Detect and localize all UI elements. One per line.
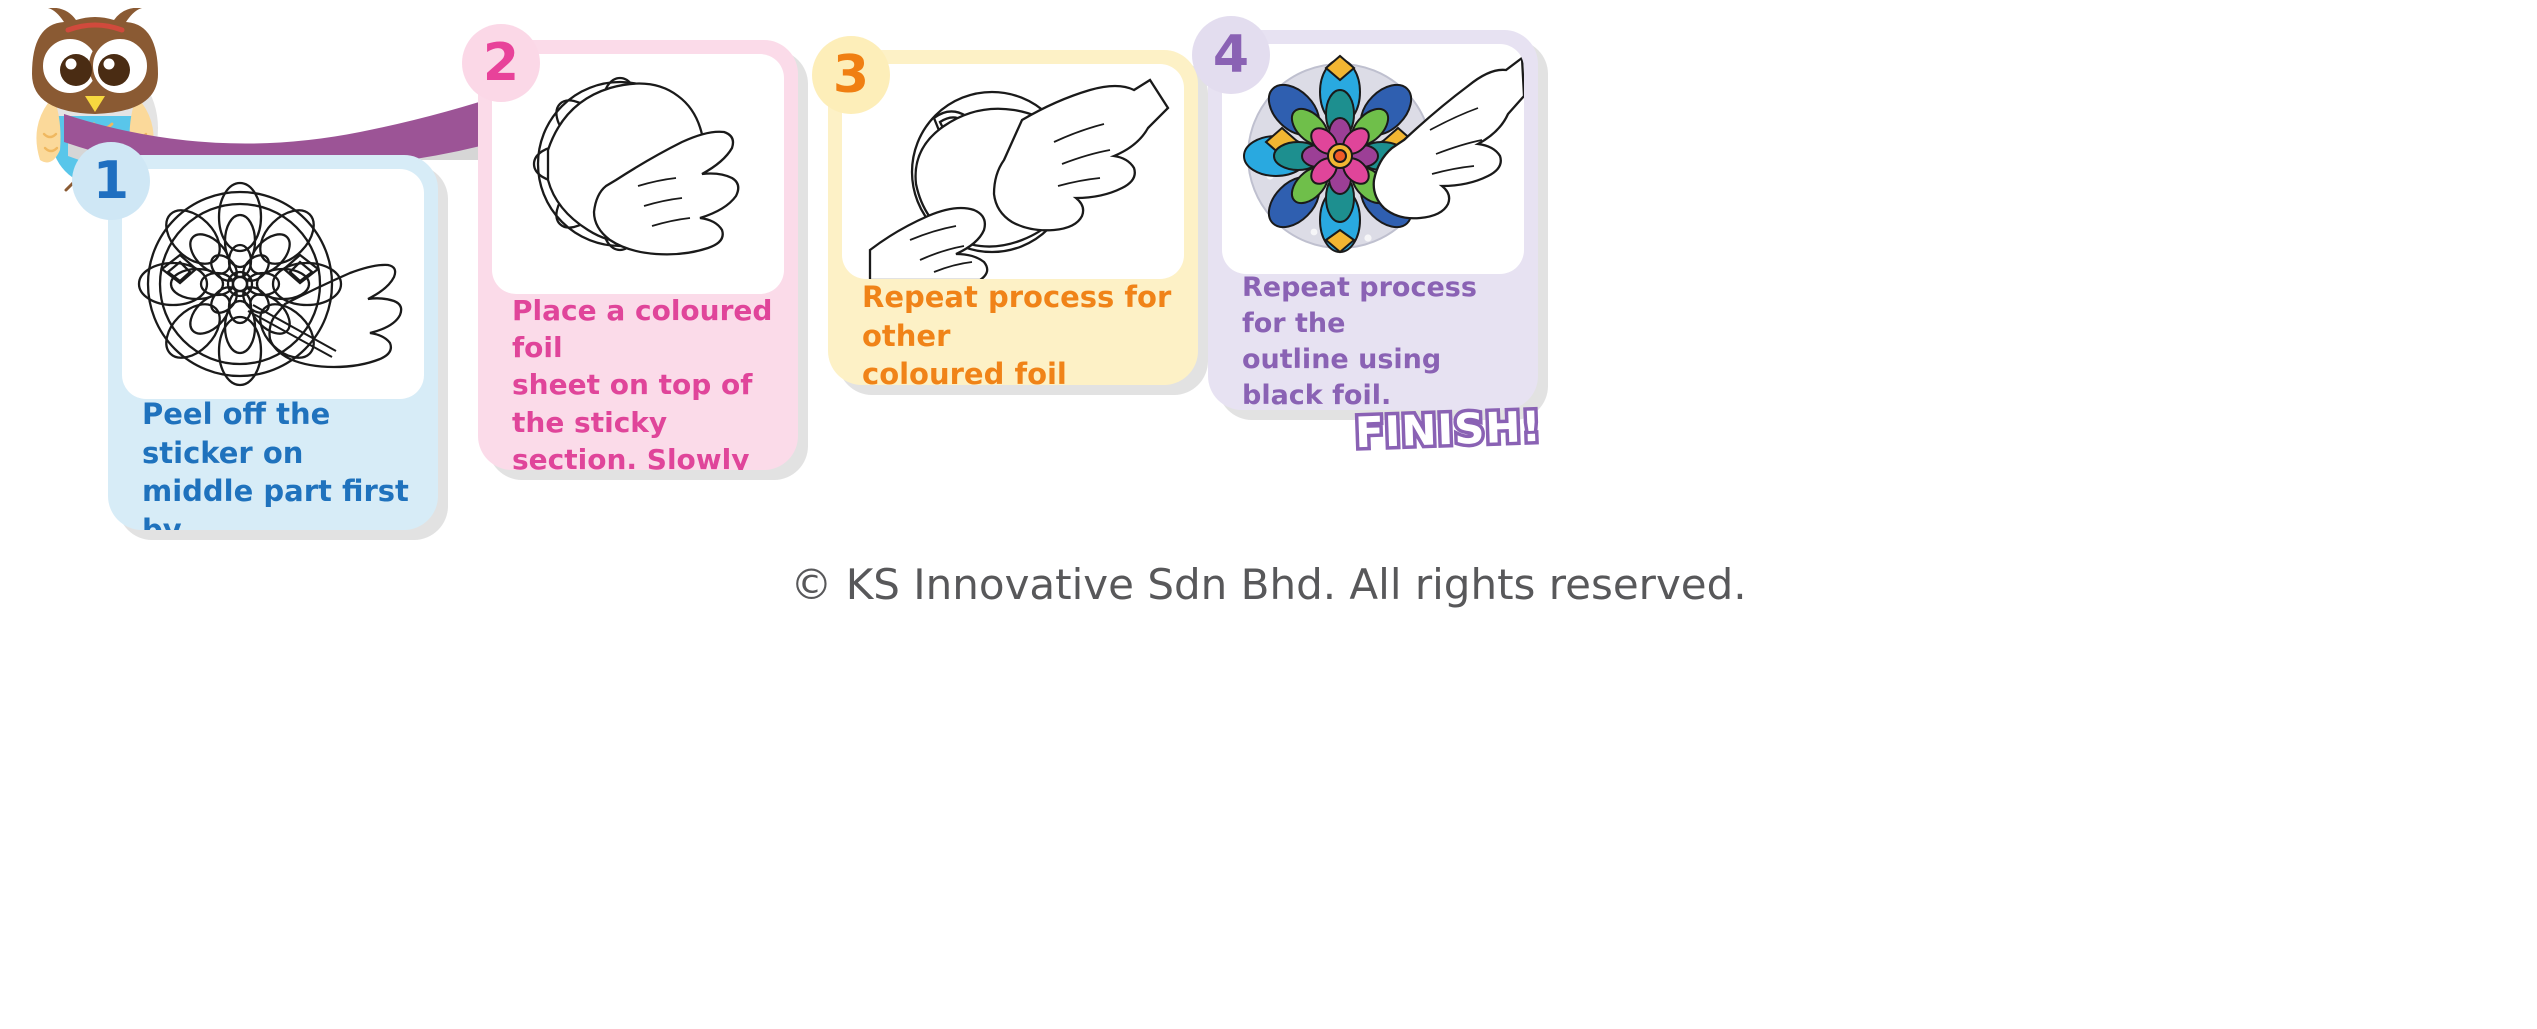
step-1-text: Peel off the sticker on middle part firs… xyxy=(142,395,416,530)
step-3-text: Repeat process for other coloured foil s… xyxy=(862,278,1176,385)
step-card-1: Peel off the sticker on middle part firs… xyxy=(108,155,438,530)
illustration-two-hands-peeling-foil xyxy=(842,64,1184,279)
step-badge-1: 1 xyxy=(72,142,150,220)
footer-copyright: © KS Innovative Sdn Bhd. All rights rese… xyxy=(0,560,2537,609)
card-body: Place a coloured foil sheet on top of th… xyxy=(478,40,798,470)
step-4-text: Repeat process for the outline using bla… xyxy=(1242,270,1516,410)
step-badge-3: 3 xyxy=(812,36,890,114)
step-badge-4: 4 xyxy=(1192,16,1270,94)
finish-badge: FINISH! xyxy=(1354,402,1542,457)
illustration-finished-colourful-mandala-with-hand xyxy=(1222,44,1524,274)
card-body: Repeat process for the outline using bla… xyxy=(1208,30,1538,410)
step-2-text: Place a coloured foil sheet on top of th… xyxy=(512,292,776,470)
illustration-mandala-with-toothpick-hand xyxy=(122,169,424,399)
step-badge-2: 2 xyxy=(462,24,540,102)
step-card-3: Repeat process for other coloured foil s… xyxy=(828,50,1198,385)
illustration-hand-pressing-foil-sheet xyxy=(492,54,784,294)
step-card-4: Repeat process for the outline using bla… xyxy=(1208,30,1538,410)
step-card-2: Place a coloured foil sheet on top of th… xyxy=(478,40,798,470)
card-body: Repeat process for other coloured foil s… xyxy=(828,50,1198,385)
card-body: Peel off the sticker on middle part firs… xyxy=(108,155,438,530)
